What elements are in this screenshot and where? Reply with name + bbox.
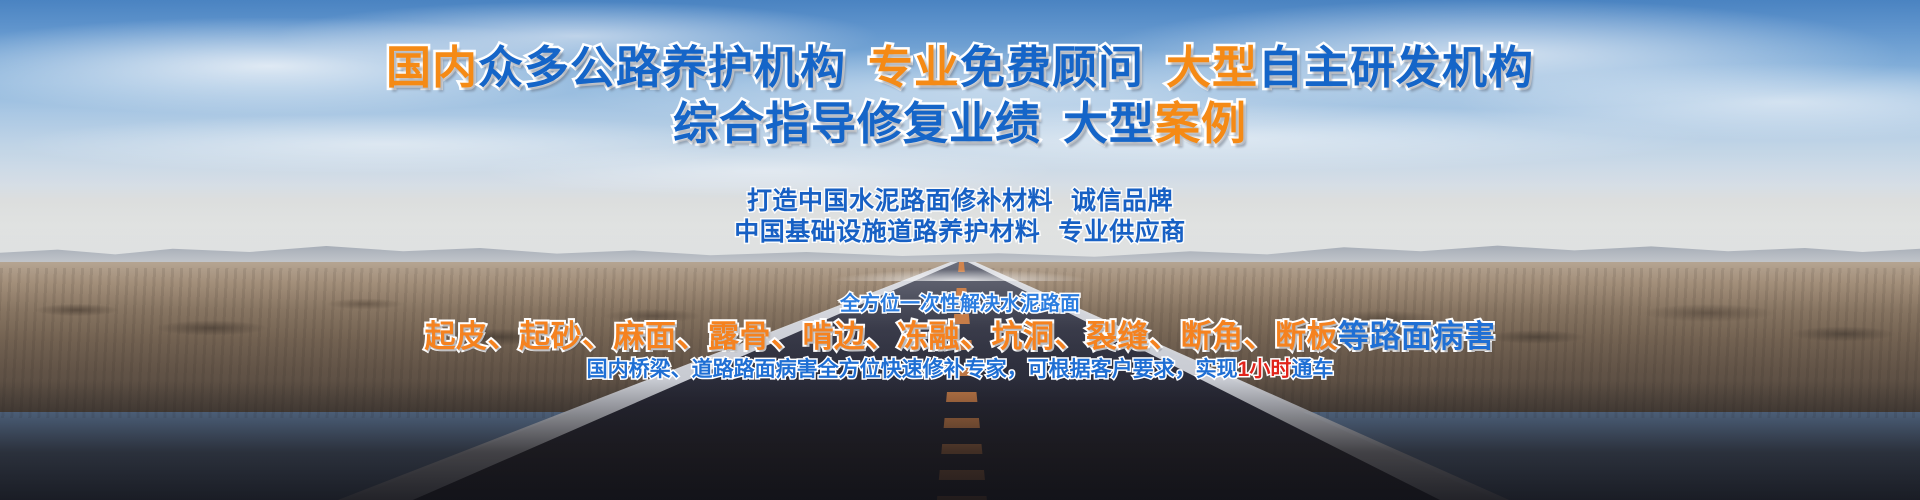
headline-2-seg-2: 大型	[1063, 98, 1155, 149]
subtitle-block: 打造中国水泥路面修补材料诚信品牌 中国基础设施道路养护材料专业供应商	[0, 186, 1920, 248]
footer-highlight: 1小时	[1238, 358, 1292, 381]
bottom-defects-line: 起皮、起砂、麻面、露骨、啃边、冻融、坑洞、裂缝、断角、断板等路面病害	[0, 318, 1920, 356]
headline-1-seg-4: 免费顾问	[960, 42, 1144, 93]
headline-1-seg-2: 众多公路养护机构	[478, 42, 846, 93]
promo-banner: 国内众多公路养护机构专业免费顾问大型自主研发机构 综合指导修复业绩大型案例 打造…	[0, 0, 1920, 500]
footer-seg-1: 国内桥梁、道路路面病害全方位快速修补专家，可根据客户要求，实现	[587, 358, 1238, 381]
bottom-block: 全方位一次性解决水泥路面 起皮、起砂、麻面、露骨、啃边、冻融、坑洞、裂缝、断角、…	[0, 292, 1920, 383]
headline-line-2: 综合指导修复业绩大型案例	[0, 96, 1920, 152]
defects-list: 起皮、起砂、麻面、露骨、啃边、冻融、坑洞、裂缝、断角、断板	[425, 319, 1339, 354]
headline-block: 国内众多公路养护机构专业免费顾问大型自主研发机构 综合指导修复业绩大型案例	[0, 40, 1920, 152]
subtitle-line-1: 打造中国水泥路面修补材料诚信品牌	[0, 186, 1920, 217]
subtitle-1-seg-2: 诚信品牌	[1071, 187, 1173, 215]
subtitle-2-seg-1: 中国基础设施道路养护材料	[734, 218, 1040, 246]
headline-1-seg-6: 自主研发机构	[1258, 42, 1534, 93]
banner-text-layer: 国内众多公路养护机构专业免费顾问大型自主研发机构 综合指导修复业绩大型案例 打造…	[0, 0, 1920, 500]
headline-1-seg-1: 国内	[386, 42, 478, 93]
subtitle-1-seg-1: 打造中国水泥路面修补材料	[747, 187, 1053, 215]
headline-2-seg-3: 案例	[1155, 98, 1247, 149]
defects-suffix: 等路面病害	[1338, 319, 1496, 354]
bottom-lead-line: 全方位一次性解决水泥路面	[0, 292, 1920, 316]
footer-seg-2: 通车	[1291, 358, 1333, 381]
headline-1-seg-3: 专业	[868, 42, 960, 93]
headline-line-1: 国内众多公路养护机构专业免费顾问大型自主研发机构	[0, 40, 1920, 96]
headline-1-seg-5: 大型	[1166, 42, 1258, 93]
headline-2-seg-1: 综合指导修复业绩	[673, 98, 1041, 149]
bottom-footer-line: 国内桥梁、道路路面病害全方位快速修补专家，可根据客户要求，实现1小时通车	[0, 357, 1920, 383]
subtitle-2-seg-2: 专业供应商	[1058, 218, 1186, 246]
subtitle-line-2: 中国基础设施道路养护材料专业供应商	[0, 217, 1920, 248]
